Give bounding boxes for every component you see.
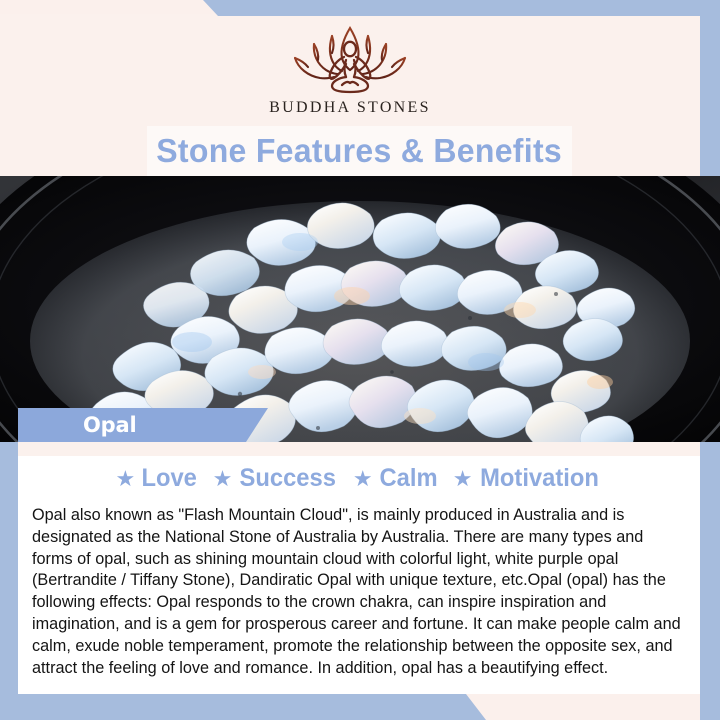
hero-image	[0, 176, 720, 442]
stone-info-card: BUDDHA STONES Stone Features & Benefits	[0, 0, 720, 720]
stone-name-label: Opal	[83, 413, 136, 437]
benefits-row: ★ Love ★ Success ★ Calm ★ Motivation	[18, 466, 700, 491]
panel-top-tint	[18, 442, 700, 456]
benefit-label: Success	[240, 466, 336, 491]
benefit-item-motivation: ★ Motivation	[453, 466, 603, 491]
stone-name-banner: Opal	[18, 408, 268, 442]
star-icon: ★	[116, 468, 136, 490]
benefit-label: Love	[142, 466, 197, 491]
title-banner: Stone Features & Benefits	[147, 126, 572, 176]
star-icon: ★	[453, 468, 473, 490]
brand-wordmark: BUDDHA STONES	[0, 99, 700, 117]
benefit-item-success: ★ Success	[213, 466, 339, 491]
opal-stones-photo	[0, 176, 720, 442]
decor-bottom-blue-band	[0, 694, 720, 720]
benefit-label: Calm	[379, 466, 437, 491]
page-title: Stone Features & Benefits	[157, 132, 563, 170]
benefit-label: Motivation	[481, 466, 600, 491]
star-icon: ★	[353, 468, 373, 490]
star-icon: ★	[213, 468, 233, 490]
benefit-item-love: ★ Love	[116, 466, 199, 491]
benefit-item-calm: ★ Calm	[353, 466, 439, 491]
lotus-meditation-icon	[284, 22, 416, 96]
brand-logo: BUDDHA STONES	[0, 22, 700, 117]
stone-description: Opal also known as "Flash Mountain Cloud…	[32, 505, 682, 679]
